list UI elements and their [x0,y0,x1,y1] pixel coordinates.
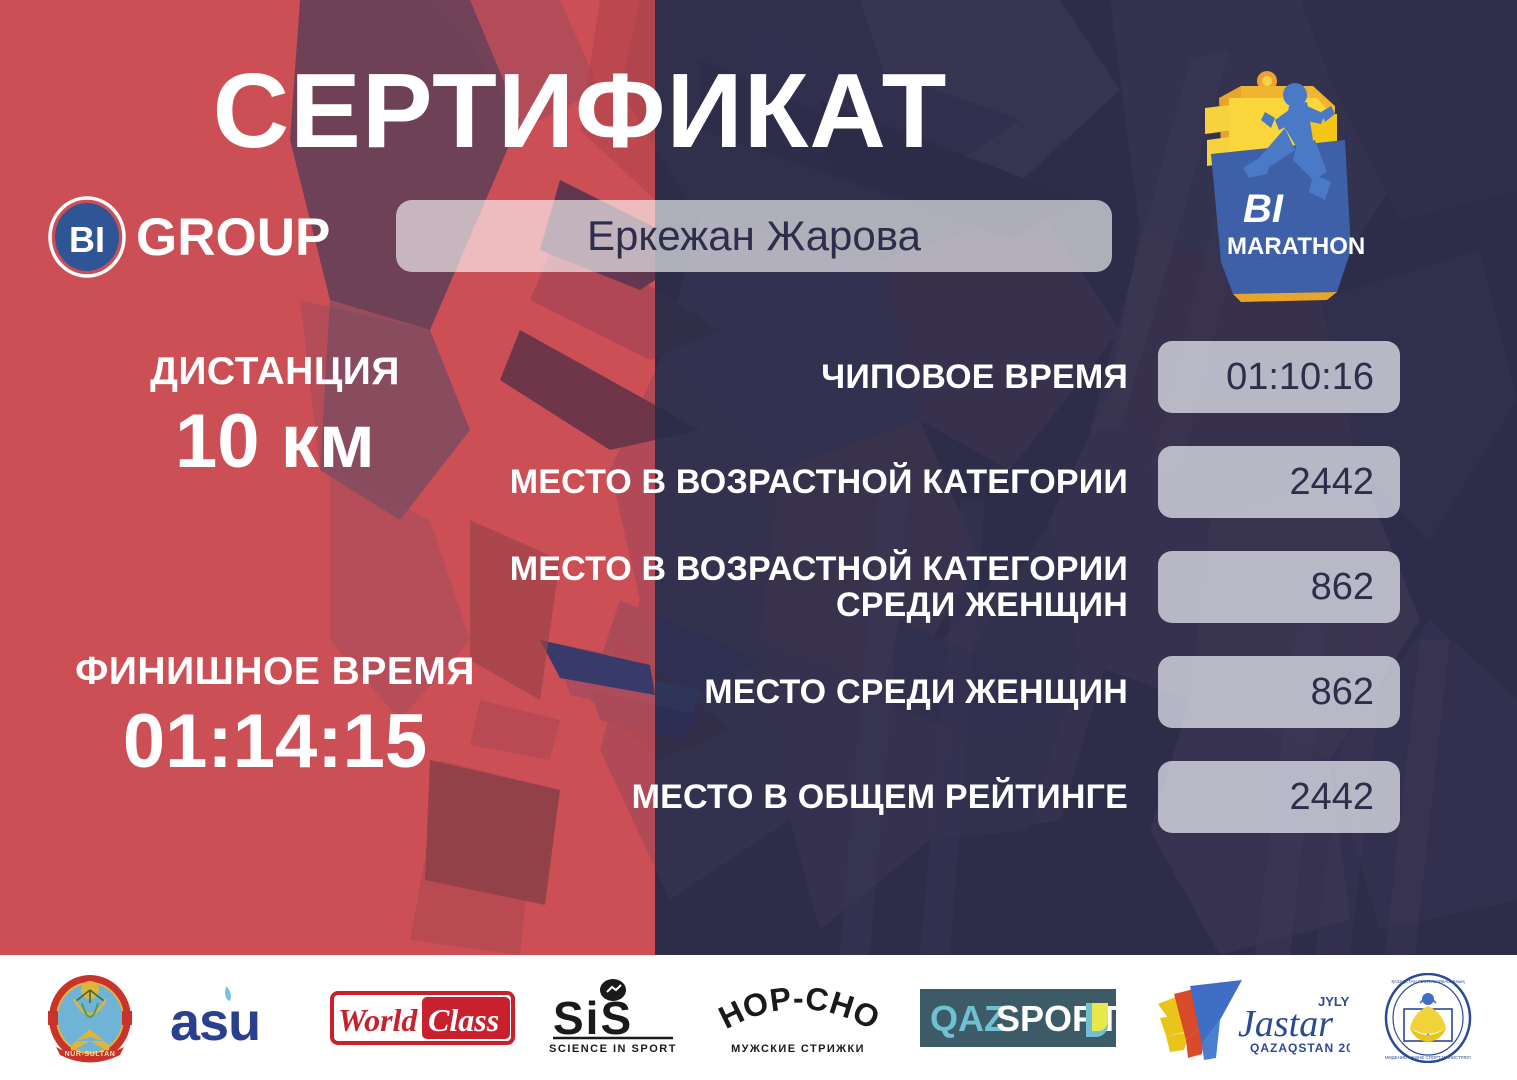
svg-text:JYLY: JYLY [1318,994,1350,1009]
certificate-title: СЕРТИФИКАТ [0,58,1160,164]
chip-time-label: ЧИПОВОЕ ВРЕМЯ [500,359,1158,395]
sponsor-sis: SiS SCIENCE IN SPORT [549,972,677,1064]
finish-time-label: ФИНИШНОЕ ВРЕМЯ [60,650,490,694]
overall-place-value: 2442 [1158,761,1400,833]
svg-text:SCIENCE IN SPORT: SCIENCE IN SPORT [549,1043,677,1055]
age-category-place-value: 2442 [1158,446,1400,518]
svg-text:QAZ: QAZ [930,998,1006,1039]
jastar-jyly-logo-icon: Jastar JYLY QAZAQSTAN 2019 [1150,974,1350,1062]
svg-text:QAZAQSTAN 2019: QAZAQSTAN 2019 [1250,1041,1350,1055]
bi-badge-icon: BI [48,196,126,278]
sponsor-world-class: World Class [330,972,515,1064]
qazsport-logo-icon: QAZ SPORT [920,983,1116,1053]
svg-text:CHOP-CHOP: CHOP-CHOP [711,978,886,1037]
distance-label: ДИСТАНЦИЯ [60,350,490,394]
nur-sultan-emblem-icon: NUR-SULTAN [46,973,134,1063]
world-class-logo-icon: World Class [330,987,515,1049]
svg-text:МӘДЕНИЕТ ЖӘНЕ СПОРТ МИНИСТРЛІГ: МӘДЕНИЕТ ЖӘНЕ СПОРТ МИНИСТРЛІГІ [1384,1055,1470,1060]
overall-place-label: МЕСТО В ОБЩЕМ РЕЙТИНГЕ [500,779,1158,815]
sponsor-ministry-seal: ҚАЗАҚСТАН РЕСПУБЛИКАСЫНЫҢ МӘДЕНИЕТ ЖӘНЕ … [1384,972,1472,1064]
result-row: ЧИПОВОЕ ВРЕМЯ 01:10:16 [500,341,1400,413]
age-category-women-place-label: МЕСТО В ВОЗРАСТНОЙ КАТЕГОРИИ СРЕДИ ЖЕНЩИ… [500,551,1158,624]
svg-text:Jastar: Jastar [1238,1003,1333,1045]
certificate-canvas: СЕРТИФИКАТ BI GROUP Еркежан Жарова [0,0,1517,1080]
age-category-women-place-value: 862 [1158,551,1400,623]
results-list: ЧИПОВОЕ ВРЕМЯ 01:10:16 МЕСТО В ВОЗРАСТНО… [500,341,1400,866]
svg-text:ҚАЗАҚСТАН РЕСПУБЛИКАСЫНЫҢ: ҚАЗАҚСТАН РЕСПУБЛИКАСЫНЫҢ [1391,979,1465,984]
bi-marathon-logo: BI MARATHON [1185,62,1385,302]
sponsor-chop-chop: CHOP-CHOP МУЖСКИЕ СТРИЖКИ [711,972,886,1064]
result-row: МЕСТО В ВОЗРАСТНОЙ КАТЕГОРИИ СРЕДИ ЖЕНЩИ… [500,551,1400,623]
sponsor-qazsport: QAZ SPORT [920,972,1116,1064]
sis-logo-icon: SiS SCIENCE IN SPORT [549,978,677,1058]
svg-text:BI: BI [69,219,105,260]
result-row: МЕСТО В ОБЩЕМ РЕЙТИНГЕ 2442 [500,761,1400,833]
svg-text:BI: BI [1243,187,1284,231]
distance-block: ДИСТАНЦИЯ 10 км [60,350,490,483]
svg-text:SiS: SiS [553,992,633,1044]
chip-time-value: 01:10:16 [1158,341,1400,413]
bi-group-logo: BI GROUP [48,196,330,278]
age-category-place-label: МЕСТО В ВОЗРАСТНОЙ КАТЕГОРИИ [500,464,1158,500]
women-place-label: МЕСТО СРЕДИ ЖЕНЩИН [500,674,1158,710]
sponsor-bar: NUR-SULTAN asu World Class [0,955,1517,1080]
svg-text:Class: Class [428,1002,499,1038]
athlete-name: Еркежан Жарова [587,215,921,257]
athlete-name-plate: Еркежан Жарова [396,200,1112,272]
result-row: МЕСТО СРЕДИ ЖЕНЩИН 862 [500,656,1400,728]
bi-group-label: GROUP [136,211,330,264]
women-place-value: 862 [1158,656,1400,728]
finish-time-block: ФИНИШНОЕ ВРЕМЯ 01:14:15 [60,650,490,783]
svg-text:MARATHON: MARATHON [1227,233,1365,260]
asu-logo-icon: asu [168,982,296,1054]
result-row: МЕСТО В ВОЗРАСТНОЙ КАТЕГОРИИ 2442 [500,446,1400,518]
svg-text:World: World [338,1002,418,1038]
svg-text:asu: asu [170,992,260,1052]
finish-time-value: 01:14:15 [60,700,490,784]
ministry-seal-icon: ҚАЗАҚСТАН РЕСПУБЛИКАСЫНЫҢ МӘДЕНИЕТ ЖӘНЕ … [1384,973,1472,1063]
svg-text:NUR-SULTAN: NUR-SULTAN [64,1051,115,1058]
chop-chop-logo-icon: CHOP-CHOP МУЖСКИЕ СТРИЖКИ [711,978,886,1058]
sponsor-asu: asu [168,972,296,1064]
sponsor-nur-sultan: NUR-SULTAN [46,972,134,1064]
sponsor-jastar-jyly: Jastar JYLY QAZAQSTAN 2019 [1150,972,1350,1064]
distance-value: 10 км [60,400,490,484]
svg-text:МУЖСКИЕ СТРИЖКИ: МУЖСКИЕ СТРИЖКИ [731,1043,865,1055]
